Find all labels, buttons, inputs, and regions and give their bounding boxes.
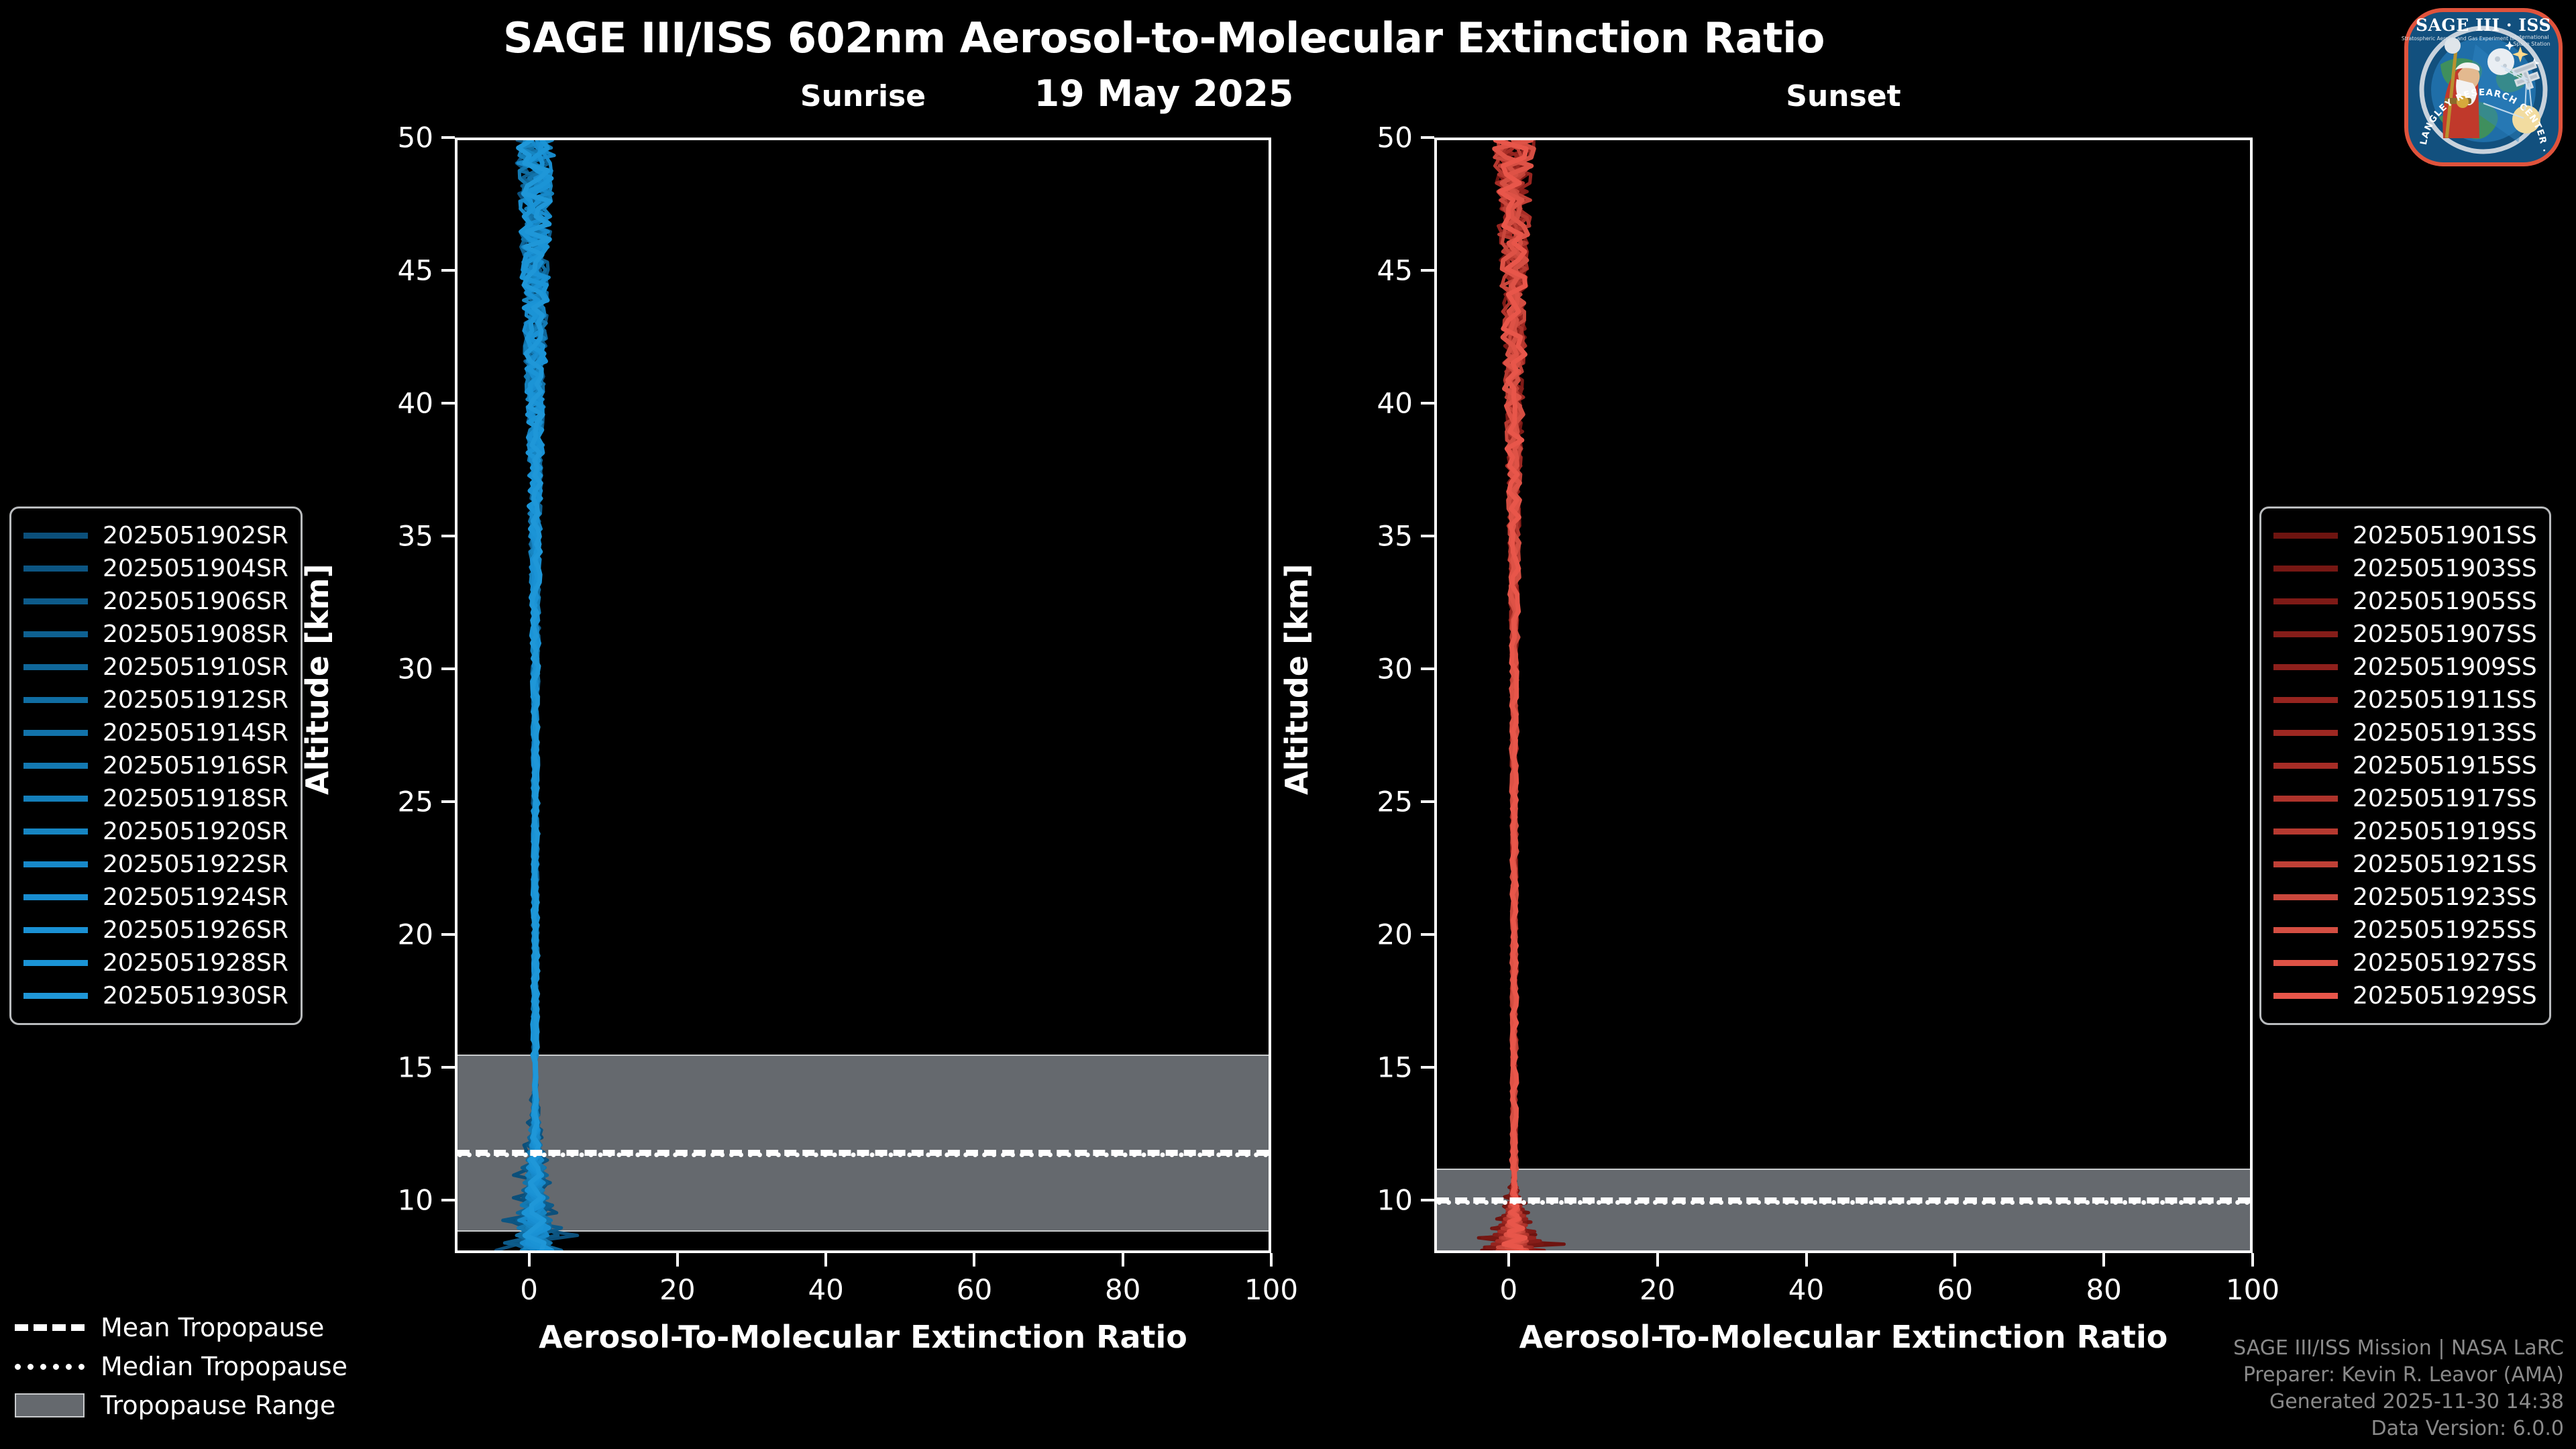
y-axis-tick <box>1421 136 1434 139</box>
legend-label: 2025051930SR <box>103 982 288 1010</box>
y-axis-tick-label: 40 <box>1300 386 1413 419</box>
legend-label: 2025051913SS <box>2353 719 2537 747</box>
y-axis-tick-label: 10 <box>321 1183 433 1216</box>
legend-color-swatch-icon <box>23 533 88 539</box>
legend-color-swatch-icon <box>23 960 88 966</box>
y-axis-tick-label: 30 <box>321 652 433 685</box>
y-axis-tick-label: 35 <box>321 519 433 552</box>
legend-label: 2025051922SR <box>103 851 288 878</box>
legend-label: 2025051917SS <box>2353 785 2537 812</box>
x-axis-tick-label: 40 <box>1753 1273 1860 1306</box>
y-axis-tick <box>441 933 455 936</box>
y-axis-tick-label: 35 <box>1300 519 1413 552</box>
x-axis-tick-label: 40 <box>772 1273 879 1306</box>
y-axis-tick-label: 50 <box>321 121 433 154</box>
legend-item-sunrise-event[interactable]: 2025051906SR <box>23 585 288 618</box>
y-axis-tick-label: 15 <box>1300 1051 1413 1083</box>
x-axis-tick-label: 100 <box>2199 1273 2306 1306</box>
x-axis-tick <box>1656 1253 1659 1267</box>
legend-item-sunrise-event[interactable]: 2025051918SR <box>23 782 288 815</box>
legend-color-swatch-icon <box>2273 894 2338 900</box>
y-axis-tick <box>441 402 455 405</box>
page-title: SAGE III/ISS 602nm Aerosol-to-Molecular … <box>0 13 2328 62</box>
y-axis-tick-label: 25 <box>1300 785 1413 818</box>
legend-item-sunset-event[interactable]: 2025051909SS <box>2273 651 2537 684</box>
legend-color-swatch-icon <box>2273 960 2338 966</box>
legend-item-sunset-event[interactable]: 2025051917SS <box>2273 782 2537 815</box>
legend-item-sunset-event[interactable]: 2025051913SS <box>2273 716 2537 749</box>
legend-color-swatch-icon <box>23 598 88 604</box>
y-axis-tick <box>441 136 455 139</box>
legend-color-swatch-icon <box>2273 697 2338 703</box>
legend-item-sunset-event[interactable]: 2025051905SS <box>2273 585 2537 618</box>
legend-label: 2025051910SR <box>103 653 288 681</box>
legend-item-sunset-event[interactable]: 2025051925SS <box>2273 914 2537 947</box>
legend-color-swatch-icon <box>23 664 88 670</box>
legend-color-swatch-icon <box>2273 598 2338 604</box>
legend-item-sunrise-event[interactable]: 2025051930SR <box>23 979 288 1012</box>
legend-label: 2025051923SS <box>2353 883 2537 911</box>
legend-label: 2025051909SS <box>2353 653 2537 681</box>
legend-item-sunset-event[interactable]: 2025051901SS <box>2273 519 2537 552</box>
legend-color-swatch-icon <box>23 828 88 835</box>
legend-label-median-tropopause: Median Tropopause <box>101 1352 347 1381</box>
x-axis-title: Aerosol-To-Molecular Extinction Ratio <box>1434 1319 2253 1355</box>
legend-label: 2025051919SS <box>2353 818 2537 845</box>
y-axis-tick <box>1421 402 1434 405</box>
legend-color-swatch-icon <box>23 894 88 900</box>
y-axis-tick-label: 45 <box>321 254 433 286</box>
y-axis-tick <box>1421 1066 1434 1069</box>
x-axis-tick <box>2251 1253 2254 1267</box>
legend-label: 2025051927SS <box>2353 949 2537 977</box>
legend-color-swatch-icon <box>2273 664 2338 670</box>
sunrise-plot-area <box>458 140 1269 1250</box>
x-axis-tick <box>1122 1253 1124 1267</box>
legend-item-mean-tropopause: Mean Tropopause <box>15 1308 347 1347</box>
y-axis-tick <box>441 535 455 537</box>
x-axis-tick <box>1805 1253 1808 1267</box>
credits-data-version: Data Version: 6.0.0 <box>2233 1415 2564 1442</box>
legend-item-sunset-event[interactable]: 2025051903SS <box>2273 552 2537 585</box>
x-axis-tick-label: 60 <box>1901 1273 2008 1306</box>
y-axis-tick-label: 40 <box>321 386 433 419</box>
legend-item-median-tropopause: Median Tropopause <box>15 1347 347 1386</box>
x-axis-tick-label: 60 <box>920 1273 1028 1306</box>
y-axis-tick <box>441 667 455 670</box>
legend-item-sunrise-event[interactable]: 2025051924SR <box>23 881 288 914</box>
legend-item-tropopause-range: Tropopause Range <box>15 1386 347 1425</box>
x-axis-tick-label: 20 <box>624 1273 731 1306</box>
legend-color-swatch-icon <box>23 730 88 736</box>
sunset-profile-curves <box>1437 140 2250 1250</box>
x-axis-tick <box>824 1253 827 1267</box>
legend-label: 2025051906SR <box>103 588 288 615</box>
tropopause-legend: Mean Tropopause Median Tropopause Tropop… <box>15 1308 347 1425</box>
legend-label: 2025051915SS <box>2353 752 2537 780</box>
x-axis-tick-label: 80 <box>1069 1273 1177 1306</box>
legend-item-sunset-event[interactable]: 2025051911SS <box>2273 684 2537 716</box>
legend-label: 2025051903SS <box>2353 555 2537 582</box>
legend-color-swatch-icon <box>2273 993 2338 999</box>
profile-line <box>1495 140 1532 1250</box>
y-axis-tick <box>1421 1199 1434 1201</box>
svg-text:International: International <box>2514 34 2548 40</box>
y-axis-tick <box>441 800 455 803</box>
legend-item-sunset-event[interactable]: 2025051919SS <box>2273 815 2537 848</box>
x-axis-tick-label: 20 <box>1604 1273 1711 1306</box>
credits-preparer: Preparer: Kevin R. Leavor (AMA) <box>2233 1362 2564 1389</box>
sunset-plot-panel <box>1434 138 2253 1253</box>
legend-label: 2025051926SR <box>103 916 288 944</box>
svg-text:Space Station: Space Station <box>2513 41 2550 47</box>
credits-mission: SAGE III/ISS Mission | NASA LaRC <box>2233 1335 2564 1362</box>
x-axis-tick-label: 80 <box>2050 1273 2157 1306</box>
y-axis-title: Altitude [km] <box>1279 563 1315 795</box>
legend-label: 2025051914SR <box>103 719 288 747</box>
legend-item-sunrise-event[interactable]: 2025051922SR <box>23 848 288 881</box>
legend-label-mean-tropopause: Mean Tropopause <box>101 1313 324 1342</box>
y-axis-tick-label: 20 <box>321 918 433 951</box>
x-axis-tick <box>973 1253 975 1267</box>
legend-label: 2025051901SS <box>2353 522 2537 549</box>
legend-label: 2025051924SR <box>103 883 288 911</box>
x-axis-tick <box>1507 1253 1510 1267</box>
legend-color-swatch-icon <box>2273 828 2338 835</box>
legend-item-sunset-event[interactable]: 2025051927SS <box>2273 947 2537 979</box>
y-axis-tick <box>1421 933 1434 936</box>
x-axis-tick-label: 0 <box>1455 1273 1562 1306</box>
x-axis-tick <box>676 1253 679 1267</box>
median-tropopause-line <box>458 1152 1269 1157</box>
legend-item-sunrise-event[interactable]: 2025051920SR <box>23 815 288 848</box>
legend-color-swatch-icon <box>2273 730 2338 736</box>
sunrise-legend: 2025051902SR2025051904SR2025051906SR2025… <box>9 506 303 1025</box>
legend-label: 2025051904SR <box>103 555 288 582</box>
legend-item-sunset-event[interactable]: 2025051929SS <box>2273 979 2537 1012</box>
legend-label: 2025051925SS <box>2353 916 2537 944</box>
svg-text:Stratospheric Aerosol and Gas: Stratospheric Aerosol and Gas Experiment… <box>2402 36 2514 42</box>
legend-color-swatch-icon <box>23 763 88 769</box>
y-axis-tick <box>441 269 455 272</box>
legend-color-swatch-icon <box>2273 861 2338 867</box>
x-axis-tick <box>1953 1253 1956 1267</box>
x-axis-tick <box>528 1253 531 1267</box>
y-axis-tick <box>1421 535 1434 537</box>
legend-color-swatch-icon <box>23 796 88 802</box>
y-axis-title: Altitude [km] <box>299 563 335 795</box>
sunrise-panel-title: Sunrise <box>455 79 1271 113</box>
dotted-line-icon <box>15 1364 85 1370</box>
legend-color-swatch-icon <box>23 566 88 572</box>
gray-band-swatch-icon <box>15 1393 85 1417</box>
legend-item-sunrise-event[interactable]: 2025051928SR <box>23 947 288 979</box>
legend-color-swatch-icon <box>2273 763 2338 769</box>
y-axis-tick <box>1421 269 1434 272</box>
y-axis-tick <box>441 1066 455 1069</box>
legend-color-swatch-icon <box>2273 796 2338 802</box>
sunset-plot-area <box>1437 140 2250 1250</box>
legend-color-swatch-icon <box>23 697 88 703</box>
legend-label: 2025051920SR <box>103 818 288 845</box>
x-axis-tick <box>1270 1253 1273 1267</box>
legend-item-sunrise-event[interactable]: 2025051916SR <box>23 749 288 782</box>
x-axis-tick-label: 0 <box>476 1273 583 1306</box>
legend-item-sunrise-event[interactable]: 2025051910SR <box>23 651 288 684</box>
sunset-legend: 2025051901SS2025051903SS2025051905SS2025… <box>2259 506 2551 1025</box>
legend-color-swatch-icon <box>23 993 88 999</box>
legend-item-sunrise-event[interactable]: 2025051914SR <box>23 716 288 749</box>
y-axis-tick-label: 10 <box>1300 1183 1413 1216</box>
legend-item-sunset-event[interactable]: 2025051923SS <box>2273 881 2537 914</box>
dashed-line-icon <box>15 1324 85 1331</box>
legend-label: 2025051912SR <box>103 686 288 714</box>
x-axis-tick <box>2102 1253 2105 1267</box>
legend-color-swatch-icon <box>2273 566 2338 572</box>
y-axis-tick-label: 50 <box>1300 121 1413 154</box>
sage-iii-iss-mission-patch-logo: SAGE III · ISS Stratospheric Aerosol and… <box>2400 4 2567 170</box>
legend-label: 2025051916SR <box>103 752 288 780</box>
legend-label: 2025051921SS <box>2353 851 2537 878</box>
legend-item-sunset-event[interactable]: 2025051907SS <box>2273 618 2537 651</box>
legend-label: 2025051902SR <box>103 522 288 549</box>
legend-item-sunrise-event[interactable]: 2025051902SR <box>23 519 288 552</box>
sunset-panel-title: Sunset <box>1434 79 2253 113</box>
legend-color-swatch-icon <box>2273 533 2338 539</box>
legend-item-sunset-event[interactable]: 2025051915SS <box>2273 749 2537 782</box>
mission-patch-icon: SAGE III · ISS Stratospheric Aerosol and… <box>2400 4 2567 170</box>
y-axis-tick-label: 15 <box>321 1051 433 1083</box>
legend-label: 2025051918SR <box>103 785 288 812</box>
credits-generated: Generated 2025-11-30 14:38 <box>2233 1389 2564 1415</box>
legend-color-swatch-icon <box>2273 927 2338 933</box>
legend-label: 2025051908SR <box>103 621 288 648</box>
sunrise-profile-curves <box>458 140 1269 1250</box>
svg-text:SAGE III · ISS: SAGE III · ISS <box>2416 15 2551 35</box>
sunrise-plot-panel <box>455 138 1271 1253</box>
legend-color-swatch-icon <box>23 861 88 867</box>
x-axis-tick-label: 100 <box>1218 1273 1325 1306</box>
legend-color-swatch-icon <box>23 927 88 933</box>
y-axis-tick-label: 20 <box>1300 918 1413 951</box>
x-axis-title: Aerosol-To-Molecular Extinction Ratio <box>455 1319 1271 1355</box>
legend-label-tropopause-range: Tropopause Range <box>101 1391 335 1420</box>
y-axis-tick <box>441 1199 455 1201</box>
legend-label: 2025051905SS <box>2353 588 2537 615</box>
legend-label: 2025051911SS <box>2353 686 2537 714</box>
y-axis-tick <box>1421 800 1434 803</box>
legend-item-sunrise-event[interactable]: 2025051908SR <box>23 618 288 651</box>
legend-label: 2025051928SR <box>103 949 288 977</box>
legend-label: 2025051929SS <box>2353 982 2537 1010</box>
legend-item-sunrise-event[interactable]: 2025051912SR <box>23 684 288 716</box>
legend-color-swatch-icon <box>23 631 88 637</box>
legend-item-sunrise-event[interactable]: 2025051926SR <box>23 914 288 947</box>
legend-label: 2025051907SS <box>2353 621 2537 648</box>
y-axis-tick-label: 45 <box>1300 254 1413 286</box>
y-axis-tick <box>1421 667 1434 670</box>
legend-color-swatch-icon <box>2273 631 2338 637</box>
y-axis-tick-label: 30 <box>1300 652 1413 685</box>
median-tropopause-line <box>1437 1200 2250 1205</box>
legend-item-sunrise-event[interactable]: 2025051904SR <box>23 552 288 585</box>
y-axis-tick-label: 25 <box>321 785 433 818</box>
credits-block: SAGE III/ISS Mission | NASA LaRC Prepare… <box>2233 1335 2564 1442</box>
legend-item-sunset-event[interactable]: 2025051921SS <box>2273 848 2537 881</box>
